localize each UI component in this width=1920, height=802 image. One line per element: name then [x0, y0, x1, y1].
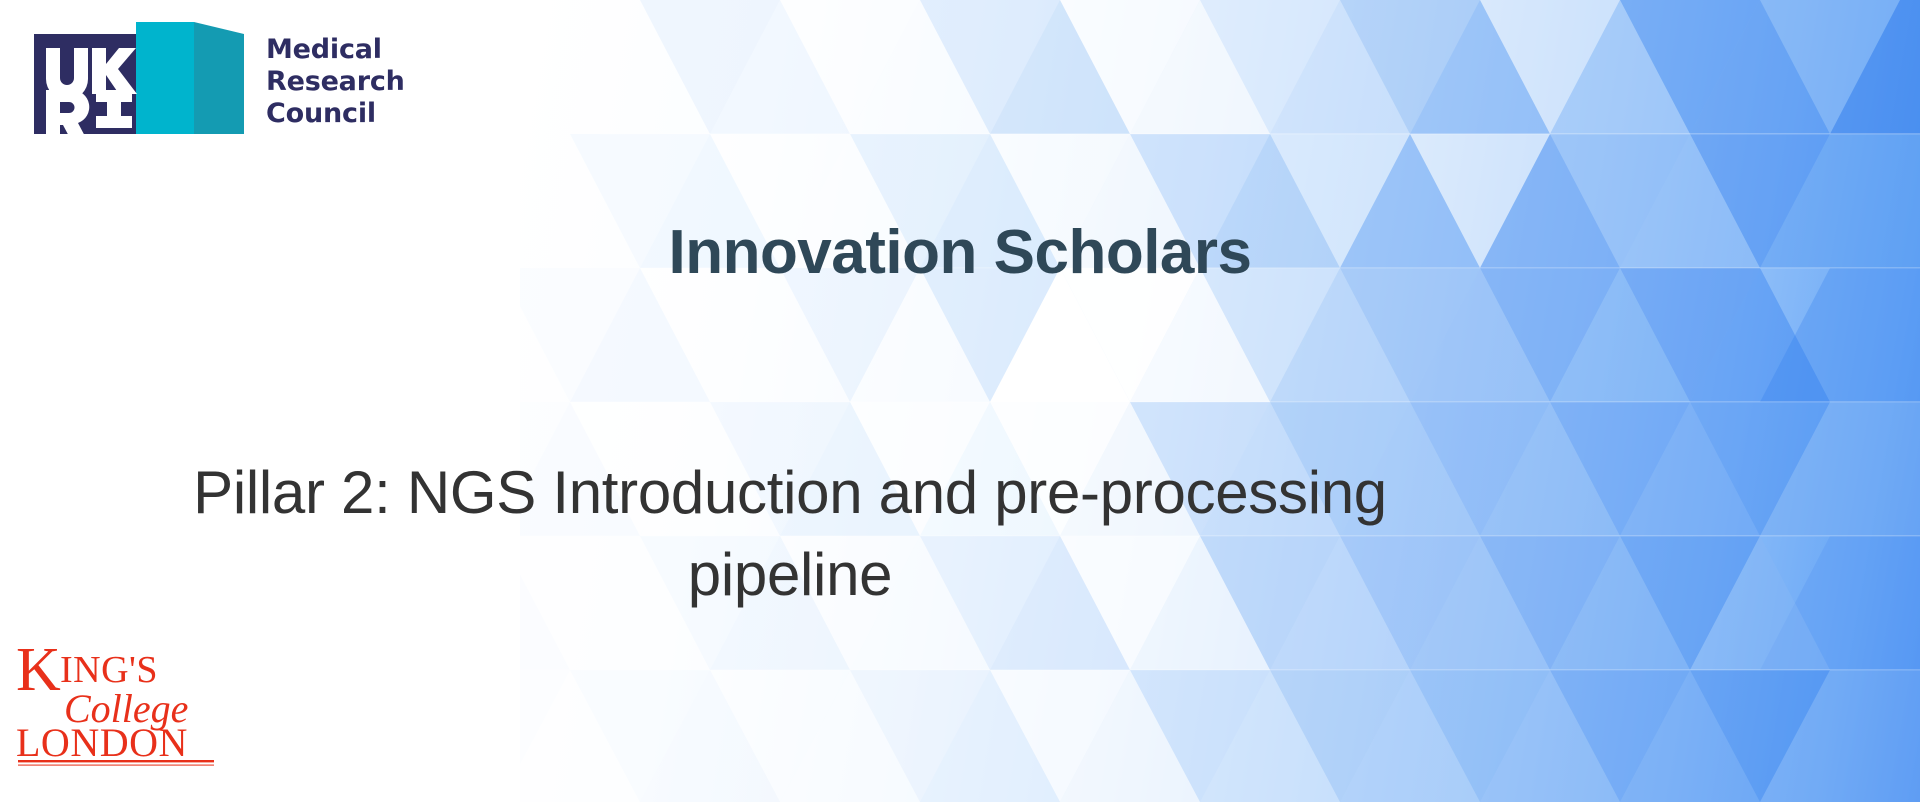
kcl-rule-bottom [18, 765, 214, 766]
kcl-rule-top [18, 760, 214, 762]
mrc-wordmark-line-1: Medical [266, 34, 405, 66]
mrc-wordmark: Medical Research Council [266, 22, 405, 130]
kcl-london: LONDON [16, 720, 188, 765]
kcl-ings: ING'S [60, 649, 158, 691]
title-slide: Medical Research Council Innovation Scho… [0, 0, 1920, 802]
ukri-mark-icon [34, 22, 244, 134]
mrc-logo: Medical Research Council [34, 22, 405, 134]
mrc-wordmark-line-2: Research [266, 66, 405, 98]
mrc-wordmark-line-3: Council [266, 98, 405, 130]
kcl-drop-cap: K [16, 638, 61, 704]
kings-college-london-logo: K ING'S College LONDON [16, 638, 216, 766]
